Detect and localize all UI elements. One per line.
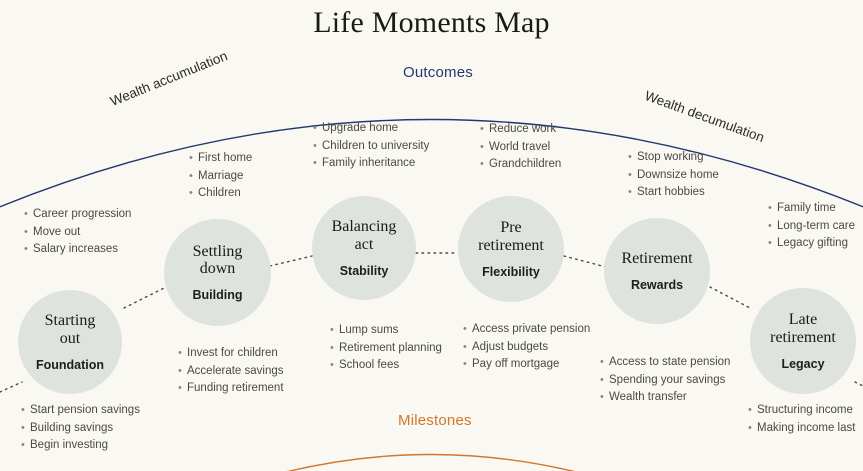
list-item: •Grandchildren [480,159,561,171]
list-item-label: First home [198,153,252,165]
list-item: •Access private pension [463,324,590,336]
list-item: •Funding retirement [178,383,284,395]
node-title: Retirement [621,250,692,267]
list-item: •Children [189,188,252,200]
list-item: •Start pension savings [21,405,140,417]
band-label-milestones: Milestones [389,412,481,429]
bullet-icon: • [178,383,187,395]
list-item: •Lump sums [330,325,442,337]
list-item: •Building savings [21,423,140,435]
list-item-label: Legacy gifting [777,238,848,250]
list-item: •Stop working [628,152,719,164]
list-item-label: Upgrade home [322,123,398,135]
list-item: •First home [189,153,252,165]
list-item: •Begin investing [21,440,140,452]
node-title: Starting out [45,312,96,347]
list-item: •Accelerate savings [178,366,284,378]
bullet-icon: • [313,123,322,135]
bullet-icon: • [768,203,777,215]
list-item: •Invest for children [178,348,284,360]
list-item: •Pay off mortgage [463,359,590,371]
list-item-label: Lump sums [339,325,398,337]
list-item-label: Access private pension [472,324,590,336]
bullet-icon: • [189,188,198,200]
list-item: •Structuring income [748,405,855,417]
list-item-label: Salary increases [33,244,118,256]
list-pre-retirement-milestones: •Access private pension•Adjust budgets•P… [463,324,590,377]
list-starting-out-outcomes: •Career progression•Move out•Salary incr… [24,209,131,262]
list-retirement-milestones: •Access to state pension•Spending your s… [600,357,730,410]
bullet-icon: • [600,375,609,387]
list-balancing-act-milestones: •Lump sums•Retirement planning•School fe… [330,325,442,378]
bullet-icon: • [748,405,757,417]
list-balancing-act-outcomes: •Upgrade home•Children to university•Fam… [313,123,429,176]
list-item-label: Funding retirement [187,383,284,395]
list-item: •Children to university [313,141,429,153]
node-tag: Rewards [631,278,683,292]
list-item-label: Family inheritance [322,158,415,170]
node-starting-out[interactable]: Starting out Foundation [18,290,122,394]
list-item-label: Career progression [33,209,131,221]
bullet-icon: • [768,238,777,250]
list-item-label: Building savings [30,423,113,435]
list-item-label: Start pension savings [30,405,140,417]
list-item-label: School fees [339,360,399,372]
list-item-label: World travel [489,142,550,154]
band-label-outcomes: Outcomes [394,64,482,81]
node-tag: Building [193,288,243,302]
list-item: •Marriage [189,171,252,183]
list-item: •Long-term care [768,221,855,233]
list-item-label: Stop working [637,152,703,164]
list-item-label: Children [198,188,241,200]
bullet-icon: • [480,124,489,136]
list-item: •Start hobbies [628,187,719,199]
list-item-label: Invest for children [187,348,278,360]
list-item: •Legacy gifting [768,238,855,250]
bullet-icon: • [189,153,198,165]
list-item-label: Reduce work [489,124,556,136]
bullet-icon: • [600,392,609,404]
bullet-icon: • [768,221,777,233]
list-item-label: Adjust budgets [472,342,548,354]
bullet-icon: • [628,152,637,164]
bullet-icon: • [24,227,33,239]
bullet-icon: • [463,359,472,371]
node-late-retirement[interactable]: Late retirement Legacy [750,288,856,394]
list-item-label: Begin investing [30,440,108,452]
list-item-label: Accelerate savings [187,366,284,378]
list-item: •Spending your savings [600,375,730,387]
list-item-label: Spending your savings [609,375,725,387]
list-item: •Access to state pension [600,357,730,369]
milestones-arc [150,455,712,471]
bullet-icon: • [189,171,198,183]
bullet-icon: • [313,141,322,153]
list-item-label: Access to state pension [609,357,730,369]
list-item-label: Marriage [198,171,243,183]
list-item: •Career progression [24,209,131,221]
list-item: •Family inheritance [313,158,429,170]
node-balancing-act[interactable]: Balancing act Stability [312,196,416,300]
node-pre-retirement[interactable]: Pre retirement Flexibility [458,196,564,302]
bullet-icon: • [21,440,30,452]
bullet-icon: • [330,343,339,355]
bullet-icon: • [480,142,489,154]
list-item-label: Grandchildren [489,159,561,171]
list-item-label: Making income last [757,423,855,435]
life-moments-map-canvas: Life Moments Map Outcomes Milestones Wea… [0,0,863,471]
list-pre-retirement-outcomes: •Reduce work•World travel•Grandchildren [480,124,561,177]
list-item: •Family time [768,203,855,215]
list-item: •Move out [24,227,131,239]
list-item-label: Family time [777,203,836,215]
list-item-label: Downsize home [637,170,719,182]
node-title: Pre retirement [478,219,544,254]
list-item: •Retirement planning [330,343,442,355]
list-late-retirement-outcomes: •Family time•Long-term care•Legacy gifti… [768,203,855,256]
bullet-icon: • [330,360,339,372]
bullet-icon: • [463,342,472,354]
list-settling-down-outcomes: •First home•Marriage•Children [189,153,252,206]
list-item-label: Children to university [322,141,429,153]
bullet-icon: • [24,209,33,221]
list-late-retirement-milestones: •Structuring income•Making income last [748,405,855,440]
list-item: •World travel [480,142,561,154]
node-retirement[interactable]: Retirement Rewards [604,218,710,324]
node-tag: Legacy [781,357,824,371]
list-item-label: Long-term care [777,221,855,233]
list-item-label: Retirement planning [339,343,442,355]
bullet-icon: • [313,158,322,170]
list-item: •Adjust budgets [463,342,590,354]
node-title: Settling down [193,243,243,278]
bullet-icon: • [628,187,637,199]
bullet-icon: • [24,244,33,256]
list-item-label: Structuring income [757,405,853,417]
list-starting-out-milestones: •Start pension savings•Building savings•… [21,405,140,458]
bullet-icon: • [600,357,609,369]
bullet-icon: • [21,405,30,417]
list-item-label: Move out [33,227,80,239]
node-tag: Flexibility [482,265,540,279]
node-settling-down[interactable]: Settling down Building [164,219,271,326]
node-title: Balancing act [332,218,397,253]
bullet-icon: • [748,423,757,435]
bullet-icon: • [178,366,187,378]
bullet-icon: • [628,170,637,182]
list-retirement-outcomes: •Stop working•Downsize home•Start hobbie… [628,152,719,205]
bullet-icon: • [21,423,30,435]
node-title: Late retirement [770,311,836,346]
bullet-icon: • [463,324,472,336]
node-tag: Stability [340,264,389,278]
list-item: •Salary increases [24,244,131,256]
list-item: •Making income last [748,423,855,435]
bullet-icon: • [178,348,187,360]
bullet-icon: • [330,325,339,337]
bullet-icon: • [480,159,489,171]
list-item: •Upgrade home [313,123,429,135]
list-settling-down-milestones: •Invest for children•Accelerate savings•… [178,348,284,401]
node-tag: Foundation [36,358,104,372]
list-item-label: Wealth transfer [609,392,687,404]
list-item: •Downsize home [628,170,719,182]
list-item-label: Pay off mortgage [472,359,559,371]
list-item: •Reduce work [480,124,561,136]
list-item: •Wealth transfer [600,392,730,404]
list-item-label: Start hobbies [637,187,705,199]
list-item: •School fees [330,360,442,372]
